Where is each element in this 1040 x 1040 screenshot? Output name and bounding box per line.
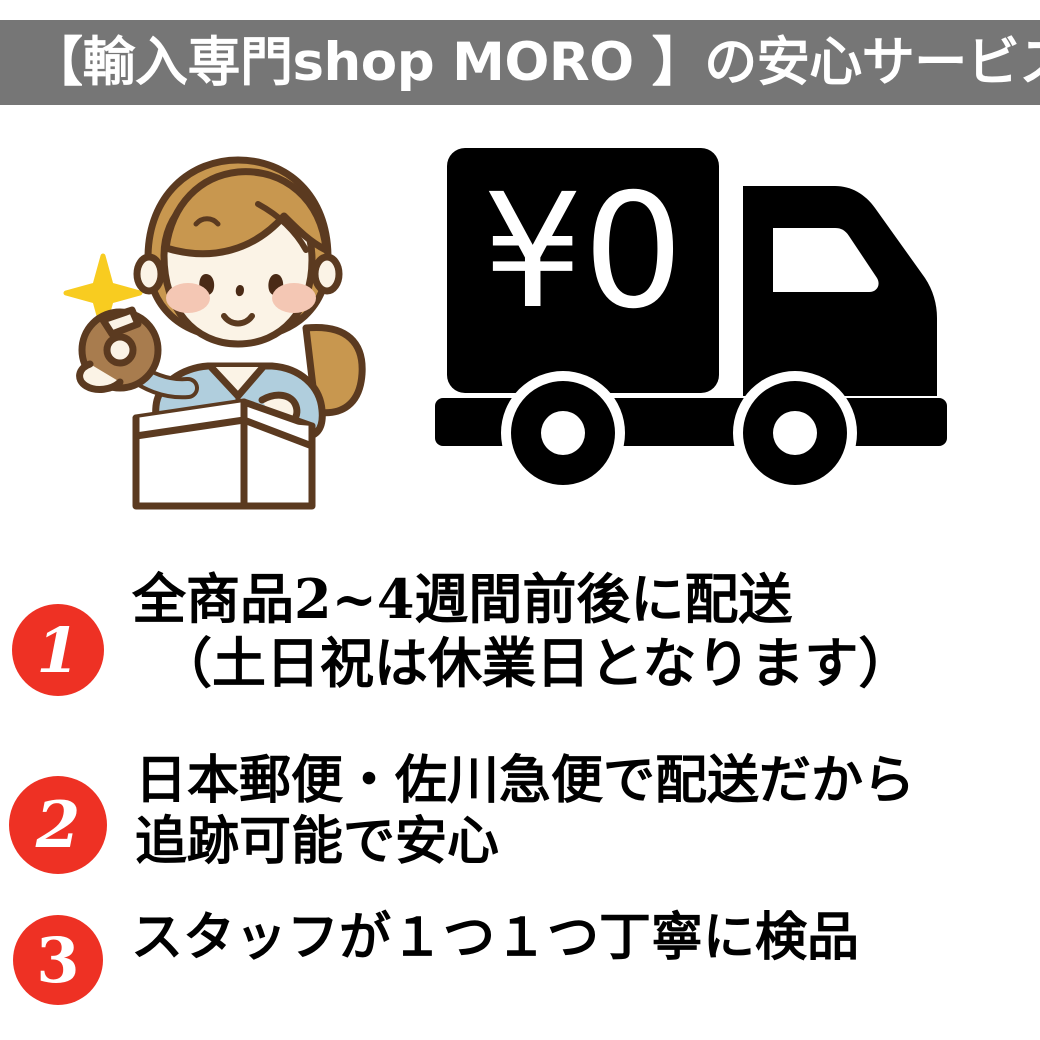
blush-right — [272, 283, 316, 313]
delivery-truck-icon: ¥0 — [425, 128, 990, 493]
feature-text-3: スタッフが１つ１つ丁寧に検品 — [131, 907, 1040, 968]
header-banner: 【輸入専門shop MORO 】の安心サービス — [0, 20, 1040, 105]
feature-badge-2: 2 — [9, 776, 107, 874]
woman-packing-box-illustration — [48, 138, 428, 518]
feature-badge-1: 1 — [12, 604, 104, 696]
blush-left — [166, 283, 210, 313]
feature-item-2: 2 日本郵便・佐川急便で配送だから 追跡可能で安心 — [0, 750, 1040, 910]
feature-line-1-2: （土日祝は休業日となります） — [132, 632, 1040, 696]
feature-text-1: 全商品2~4週間前後に配送 （土日祝は休業日となります） — [132, 568, 1040, 695]
truck-price-label: ¥0 — [482, 160, 683, 344]
feature-line-2-2: 追跡可能で安心 — [135, 811, 1040, 872]
feature-item-1: 1 全商品2~4週間前後に配送 （土日祝は休業日となります） — [0, 564, 1040, 734]
feature-badge-3: 3 — [13, 915, 103, 1005]
page-title: 【輸入専門shop MORO 】の安心サービス — [30, 36, 1040, 89]
illustration-area: ¥0 — [0, 110, 1040, 530]
feature-item-3: 3 スタッフが１つ１つ丁寧に検品 — [0, 903, 1040, 1023]
feature-line-2-1: 日本郵便・佐川急便で配送だから — [135, 750, 1040, 811]
feature-line-1-1: 全商品2~4週間前後に配送 — [132, 568, 1040, 632]
feature-line-3-1: スタッフが１つ１つ丁寧に検品 — [131, 907, 1040, 968]
feature-text-2: 日本郵便・佐川急便で配送だから 追跡可能で安心 — [135, 750, 1040, 873]
feature-list: 1 全商品2~4週間前後に配送 （土日祝は休業日となります） 2 日本郵便・佐川… — [0, 548, 1040, 1040]
